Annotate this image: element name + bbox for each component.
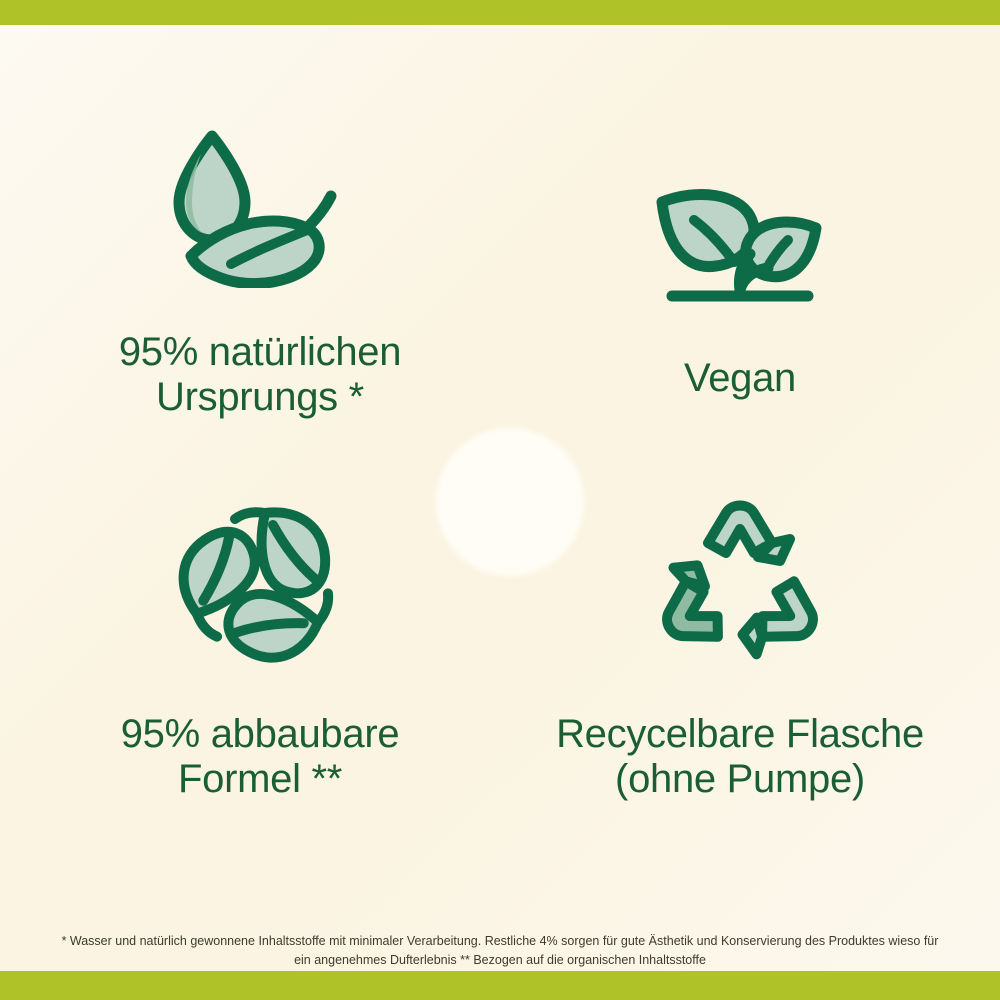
claim-biodegradable: 95% abbaubare Formel ** [10,495,510,802]
claim-label: Vegan [684,356,796,401]
claim-natural-origin: 95% natürlichen Ursprungs * [10,115,510,420]
claim-recyclable-bottle: Recycelbare Flasche (ohne Pumpe) [490,495,990,802]
three-leaves-cycle-icon [168,495,353,670]
sprout-plant-icon [640,175,840,310]
claim-vegan: Vegan [490,175,990,401]
bottom-accent-bar [0,971,1000,1000]
footnote-text: * Wasser und natürlich gewonnene Inhalts… [60,932,940,970]
top-accent-bar [0,0,1000,25]
recycle-arrows-icon [650,495,830,670]
claims-grid: 95% natürlichen Ursprungs * [0,25,1000,920]
product-claims-panel: 95% natürlichen Ursprungs * [0,0,1000,1000]
claim-label: Recycelbare Flasche (ohne Pumpe) [556,712,924,802]
droplet-leaf-icon [160,115,360,290]
claim-label: 95% abbaubare Formel ** [121,712,400,802]
claim-label: 95% natürlichen Ursprungs * [119,330,401,420]
